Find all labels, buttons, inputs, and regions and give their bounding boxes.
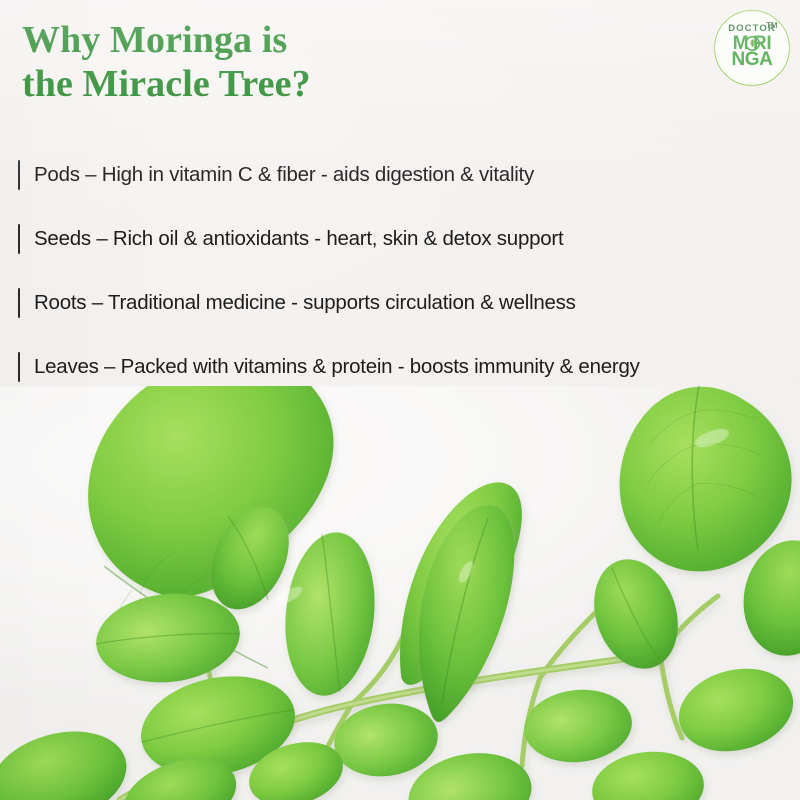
page-title-line-2: the Miracle Tree?	[22, 62, 642, 106]
moringa-leaves-photo	[0, 386, 800, 800]
page-title-line-1: Why Moringa is	[22, 19, 287, 61]
benefit-text: Pods – High in vitamin C & fiber - aids …	[34, 163, 534, 187]
bullet-bar-icon	[18, 160, 20, 190]
moringa-leaves-illustration	[0, 386, 800, 800]
poster-root: Why Moringa is the Miracle Tree? DOCTOR …	[0, 0, 800, 800]
benefit-text: Roots – Traditional medicine - supports …	[34, 291, 576, 315]
benefits-list: Pods – High in vitamin C & fiber - aids …	[0, 143, 760, 399]
bullet-bar-icon	[18, 224, 20, 254]
benefit-text: Leaves – Packed with vitamins & protein …	[34, 355, 640, 379]
bullet-bar-icon	[18, 352, 20, 382]
bullet-bar-icon	[18, 288, 20, 318]
list-item: Roots – Traditional medicine - supports …	[0, 271, 760, 335]
logo-bottom-text: NGA	[714, 50, 790, 69]
page-title: Why Moringa is the Miracle Tree?	[22, 18, 642, 106]
list-item: Seeds – Rich oil & antioxidants - heart,…	[0, 207, 760, 271]
trademark-symbol: TM	[766, 21, 778, 30]
list-item: Pods – High in vitamin C & fiber - aids …	[0, 143, 760, 207]
benefit-text: Seeds – Rich oil & antioxidants - heart,…	[34, 227, 563, 251]
brand-logo[interactable]: DOCTOR M RI NGA TM	[714, 10, 790, 86]
